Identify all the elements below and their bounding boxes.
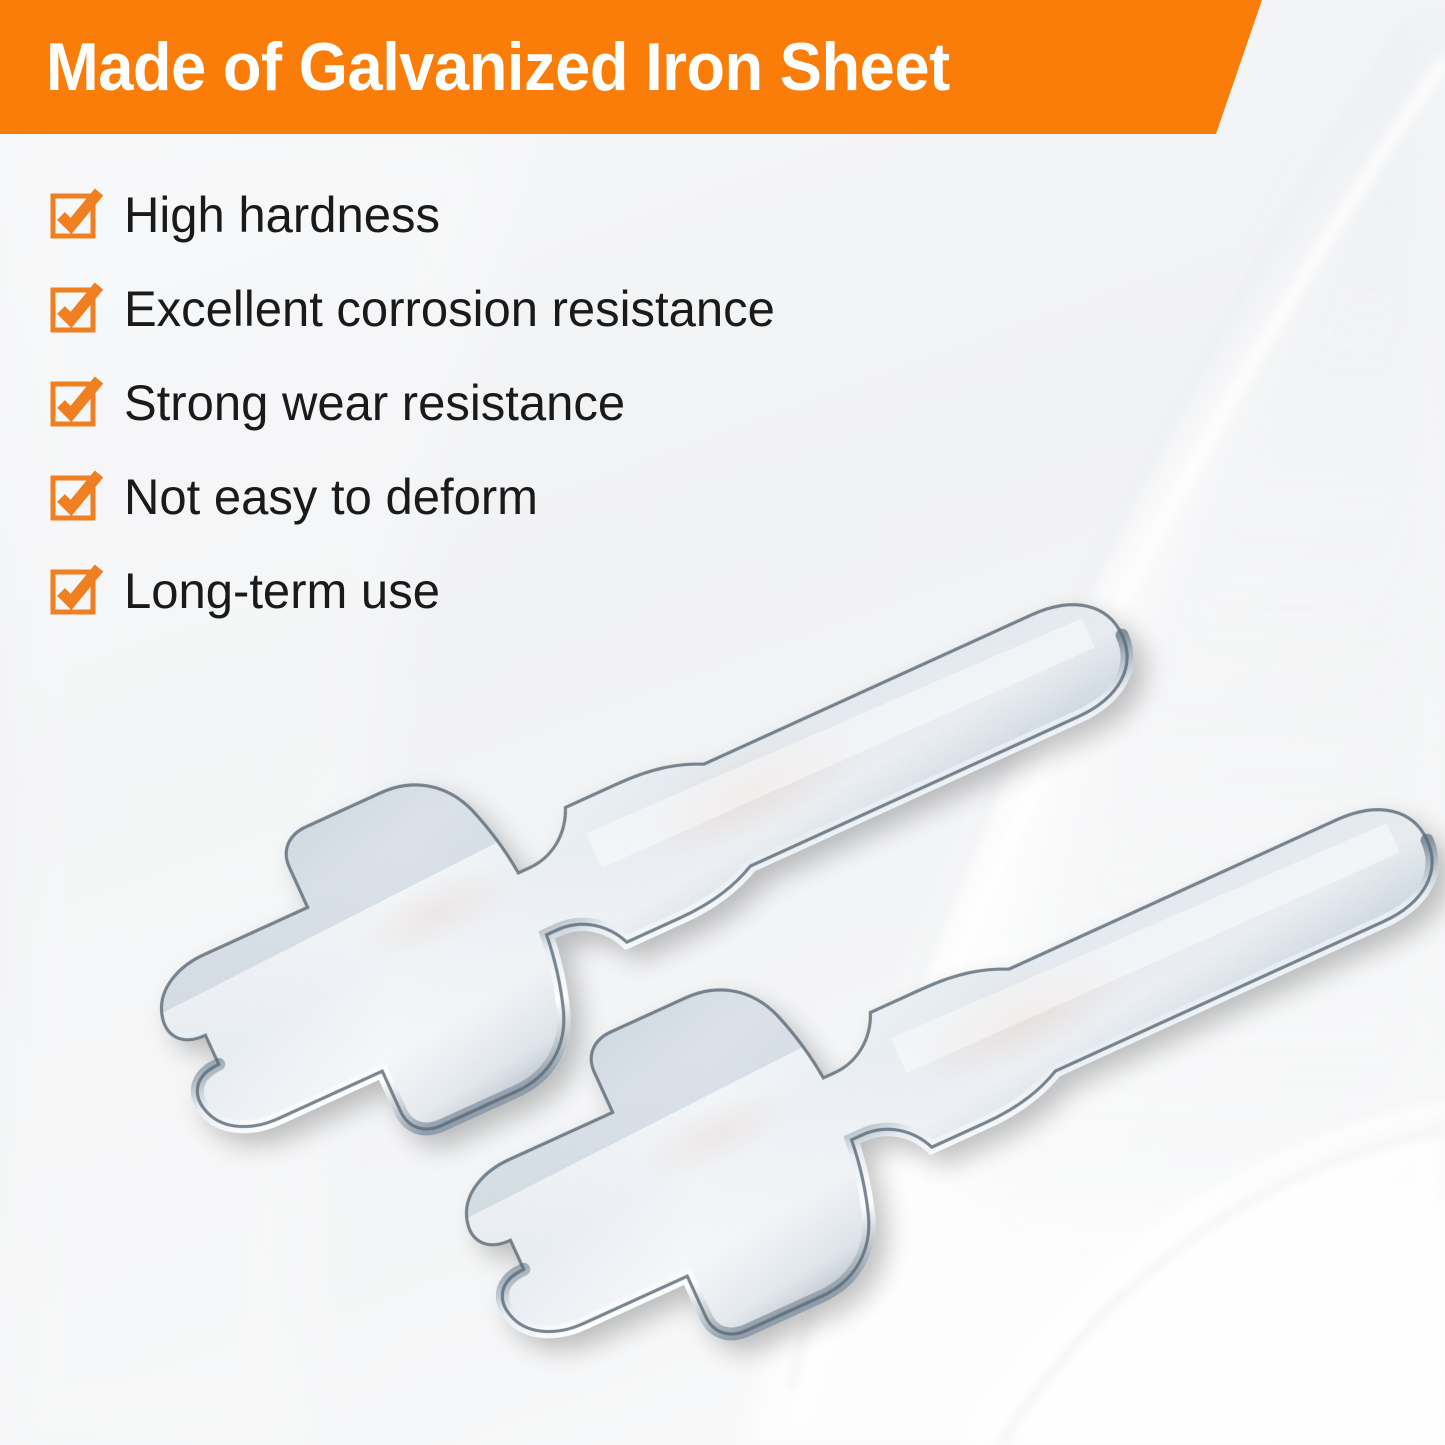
feature-label: Long-term use (124, 566, 440, 616)
feature-label: Strong wear resistance (124, 378, 625, 428)
feature-item: Not easy to deform (50, 450, 788, 544)
page-title: Made of Galvanized Iron Sheet (46, 33, 950, 101)
product-feature-image: Made of Galvanized Iron Sheet High hardn… (0, 0, 1445, 1445)
checkbox-checked-icon (50, 567, 98, 615)
feature-label: High hardness (124, 190, 440, 240)
feature-item: Excellent corrosion resistance (50, 262, 788, 356)
feature-item: High hardness (50, 168, 788, 262)
feature-item: Long-term use (50, 544, 788, 638)
feature-list: High hardness Excellent corrosion resist… (50, 168, 788, 638)
checkbox-checked-icon (50, 473, 98, 521)
feature-label: Excellent corrosion resistance (124, 284, 775, 334)
checkbox-checked-icon (50, 379, 98, 427)
checkbox-checked-icon (50, 191, 98, 239)
checkbox-checked-icon (50, 285, 98, 333)
feature-label: Not easy to deform (124, 472, 538, 522)
feature-item: Strong wear resistance (50, 356, 788, 450)
header-banner: Made of Galvanized Iron Sheet (0, 0, 1270, 134)
